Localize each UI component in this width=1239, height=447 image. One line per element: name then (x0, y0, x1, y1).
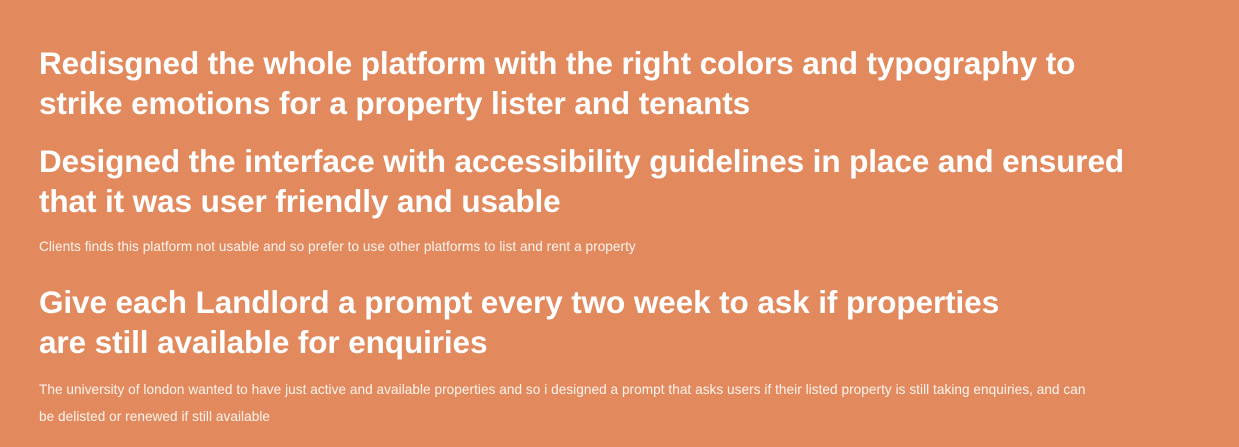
solution-highlights-panel: Redisgned the whole platform with the ri… (0, 0, 1239, 447)
highlight-body-landlord-prompt-detail: The university of london wanted to have … (39, 376, 1099, 430)
highlight-heading-redesign: Redisgned the whole platform with the ri… (39, 43, 1129, 123)
highlight-body-usability-problem: Clients finds this platform not usable a… (39, 233, 839, 260)
highlight-heading-accessibility: Designed the interface with accessibilit… (39, 141, 1164, 221)
highlight-heading-landlord-prompt: Give each Landlord a prompt every two we… (39, 282, 1049, 362)
